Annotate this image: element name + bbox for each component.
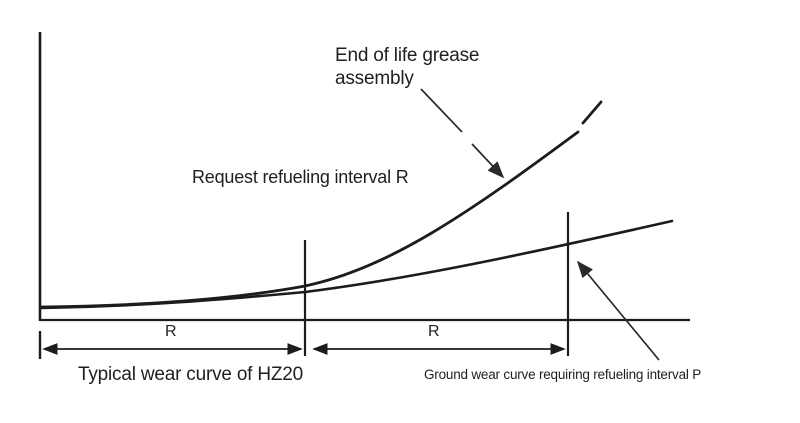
diagram-canvas: End of life greaseassembly Request refue… [0,0,800,423]
label-end-of-life-line-2: assembly [335,68,414,89]
end-of-life-leader-line-part2 [472,144,503,177]
end-of-life-leader-line-part1 [421,89,462,132]
label-ground-wear-curve: Ground wear curve requiring refueling in… [424,367,701,383]
end-of-life-curve [42,132,578,307]
label-end-of-life-line-1: End of life grease [335,45,479,66]
label-request-refueling-interval: Request refueling interval R [192,167,409,189]
label-end-of-life-grease-assembly: End of life greaseassembly [335,44,525,90]
ground-wear-curve [42,221,672,308]
label-interval-r-first: R [165,323,177,341]
ground-wear-leader-line [578,262,659,360]
end-of-life-curve-break-segment [583,102,601,123]
label-interval-r-second: R [428,323,440,341]
label-typical-wear-curve: Typical wear curve of HZ20 [78,363,303,386]
